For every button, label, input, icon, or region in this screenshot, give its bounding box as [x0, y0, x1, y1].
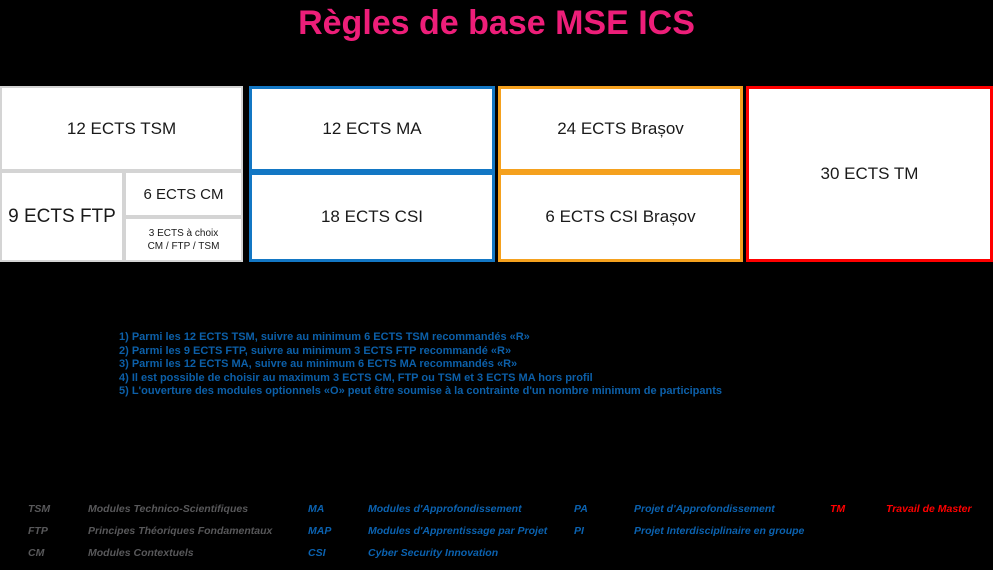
legend-desc-pi: Projet Interdisciplinaire en groupe — [634, 525, 804, 537]
rule-item: 5) L'ouverture des modules optionnels «O… — [119, 385, 879, 399]
cell-12-ects-ma[interactable]: 12 ECTS MA — [249, 86, 495, 172]
legend-desc-map: Modules d'Apprentissage par Projet — [368, 525, 547, 537]
cell-6-ects-cm[interactable]: 6 ECTS CM — [124, 171, 243, 217]
column-ma-group: 12 ECTS MA 18 ECTS CSI — [249, 86, 495, 262]
cell-choix-line-2: CM / FTP / TSM — [148, 240, 220, 253]
legend-desc-cm: Modules Contextuels — [88, 547, 194, 559]
rule-item: 4) Il est possible de choisir au maximum… — [119, 372, 879, 386]
ects-structure-table: 12 ECTS TSM 9 ECTS FTP 6 ECTS CM 3 ECTS … — [0, 86, 993, 262]
rules-list: 1) Parmi les 12 ECTS TSM, suivre au mini… — [119, 331, 879, 399]
legend: TSM Modules Technico-Scientifiques MA Mo… — [0, 503, 993, 570]
cell-12-ects-tsm[interactable]: 12 ECTS TSM — [0, 86, 243, 171]
legend-desc-pa: Projet d'Approfondissement — [634, 503, 775, 515]
legend-desc-tm: Travail de Master — [886, 503, 972, 515]
cell-24-ects-brasov[interactable]: 24 ECTS Brașov — [498, 86, 743, 172]
column-tsm-group: 12 ECTS TSM 9 ECTS FTP 6 ECTS CM 3 ECTS … — [0, 86, 243, 262]
legend-code-ma: MA — [308, 503, 324, 515]
rule-item: 3) Parmi les 12 ECTS MA, suivre au minim… — [119, 358, 879, 372]
legend-code-pa: PA — [574, 503, 588, 515]
legend-code-cm: CM — [28, 547, 44, 559]
legend-code-map: MAP — [308, 525, 331, 537]
legend-desc-csi: Cyber Security Innovation — [368, 547, 498, 559]
legend-desc-tsm: Modules Technico-Scientifiques — [88, 503, 248, 515]
cell-30-ects-tm[interactable]: 30 ECTS TM — [746, 86, 993, 262]
cell-3-ects-a-choix[interactable]: 3 ECTS à choix CM / FTP / TSM — [124, 217, 243, 262]
page-title: Règles de base MSE ICS — [0, 2, 993, 44]
cell-9-ects-ftp[interactable]: 9 ECTS FTP — [0, 171, 124, 262]
column-tm-group: 30 ECTS TM — [746, 86, 993, 262]
legend-code-csi: CSI — [308, 547, 326, 559]
legend-code-ftp: FTP — [28, 525, 48, 537]
slide-root: Règles de base MSE ICS 12 ECTS TSM 9 ECT… — [0, 0, 993, 570]
legend-desc-ma: Modules d'Approfondissement — [368, 503, 522, 515]
cell-18-ects-csi[interactable]: 18 ECTS CSI — [249, 172, 495, 262]
legend-code-pi: PI — [574, 525, 584, 537]
cell-6-ects-csi-brasov[interactable]: 6 ECTS CSI Brașov — [498, 172, 743, 262]
legend-code-tsm: TSM — [28, 503, 50, 515]
legend-row: FTP Principes Théoriques Fondamentaux MA… — [0, 525, 993, 546]
rule-item: 2) Parmi les 9 ECTS FTP, suivre au minim… — [119, 345, 879, 359]
column-brasov-group: 24 ECTS Brașov 6 ECTS CSI Brașov — [498, 86, 743, 262]
rule-item: 1) Parmi les 12 ECTS TSM, suivre au mini… — [119, 331, 879, 345]
legend-code-tm: TM — [830, 503, 845, 515]
legend-desc-ftp: Principes Théoriques Fondamentaux — [88, 525, 272, 537]
legend-row: CM Modules Contextuels CSI Cyber Securit… — [0, 547, 993, 568]
legend-row: TSM Modules Technico-Scientifiques MA Mo… — [0, 503, 993, 524]
cell-choix-line-1: 3 ECTS à choix — [148, 227, 220, 240]
